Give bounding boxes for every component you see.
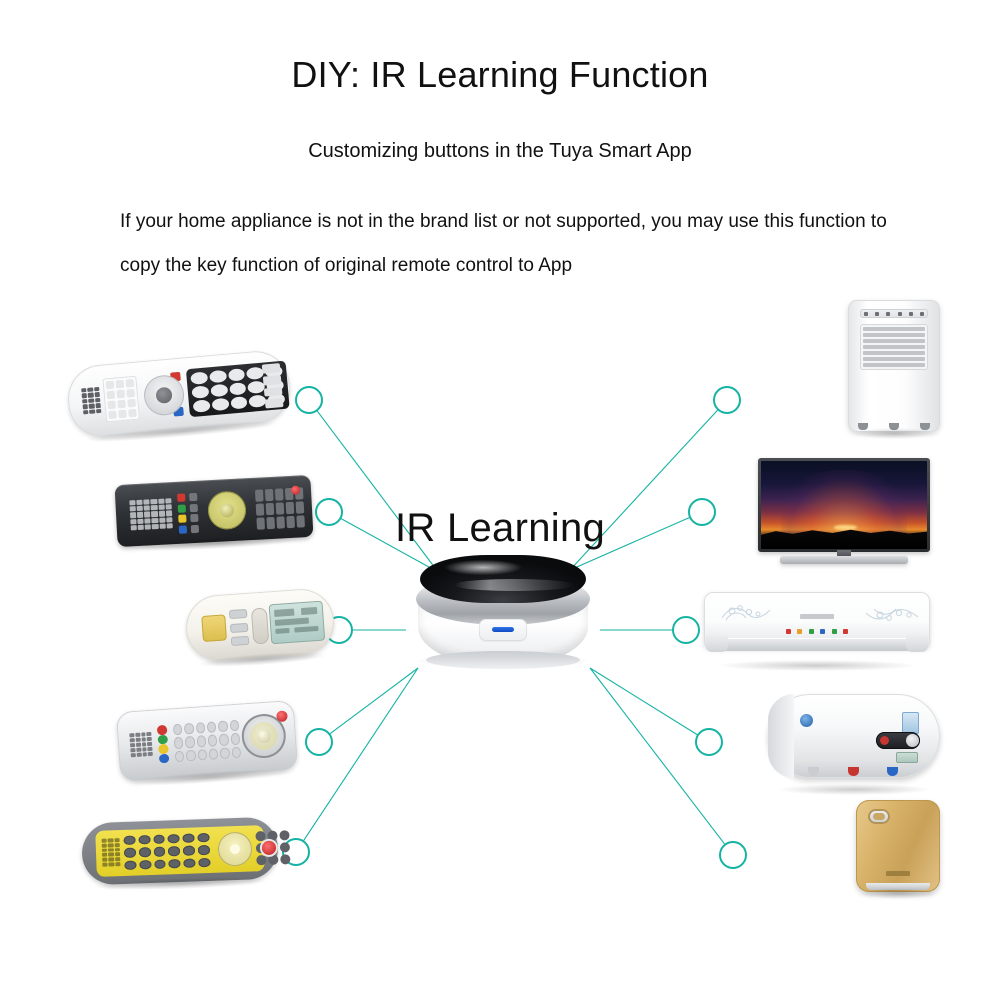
brand-logo <box>129 498 173 530</box>
numeric-keys <box>173 720 241 763</box>
device-shadow <box>861 888 935 899</box>
side-cap-left <box>706 632 728 652</box>
node-circle-split-air-conditioner[interactable] <box>673 617 699 643</box>
air-louver <box>714 638 920 651</box>
television[interactable] <box>758 458 930 566</box>
tank-end-cap <box>768 694 794 778</box>
floral-pattern-right <box>864 601 920 627</box>
hub-button[interactable] <box>479 619 527 641</box>
handle-cutout <box>873 813 885 820</box>
temperature-dial <box>906 734 919 747</box>
hub-dome <box>420 555 586 603</box>
node-circle-white-tv-remote[interactable] <box>296 387 322 413</box>
ac-remote[interactable] <box>184 587 336 663</box>
brand-logo <box>129 732 153 757</box>
side-cap-right <box>906 632 928 652</box>
carry-handle <box>868 809 890 824</box>
node-circle-silver-universal-remote[interactable] <box>306 729 332 755</box>
node-circle-water-heater[interactable] <box>696 729 722 755</box>
lcd-display <box>269 601 326 645</box>
connector-line-water-heater <box>590 668 698 735</box>
air-vent <box>860 324 928 370</box>
device-shadow <box>778 784 929 795</box>
air-purifier[interactable] <box>856 800 940 892</box>
remote-keypad-left <box>102 376 140 423</box>
ir-blaster-hub[interactable] <box>404 555 602 673</box>
water-heater[interactable] <box>768 694 940 788</box>
control-buttons <box>229 609 249 646</box>
numeric-keys <box>123 833 210 870</box>
tv-bezel <box>758 458 930 552</box>
water-pipes <box>808 767 898 776</box>
indicator-leds <box>786 628 848 634</box>
control-panel <box>860 309 928 318</box>
infographic-page: DIY: IR Learning Function Customizing bu… <box>0 0 1000 1000</box>
connector-line-silver-universal-remote <box>329 668 418 734</box>
yellow-remote[interactable] <box>81 817 279 886</box>
remote-face <box>95 825 265 877</box>
power-indicator <box>880 736 889 745</box>
split-air-conditioner[interactable] <box>704 592 930 664</box>
appliance-body <box>704 592 930 648</box>
brand-logo <box>800 614 834 619</box>
dpad <box>217 831 252 866</box>
tv-stand <box>780 556 908 564</box>
silver-universal-remote[interactable] <box>116 700 298 782</box>
temperature-display <box>896 752 918 763</box>
appliance-body <box>768 694 940 778</box>
remote-label-strip <box>81 387 101 414</box>
node-circle-air-purifier[interactable] <box>720 842 746 868</box>
brand-logo <box>886 871 910 876</box>
device-shadow <box>854 428 935 439</box>
dpad-center <box>155 387 172 404</box>
swing-button <box>251 607 269 644</box>
node-circle-portable-air-conditioner[interactable] <box>714 387 740 413</box>
energy-label <box>902 712 919 734</box>
brand-logo <box>102 838 121 867</box>
hub-led-indicator <box>492 627 514 632</box>
brand-badge <box>800 714 813 727</box>
function-keys <box>262 363 284 408</box>
black-tv-remote[interactable] <box>115 475 314 547</box>
dpad-center <box>220 503 235 518</box>
dpad-center <box>230 844 240 854</box>
mode-button <box>201 614 227 642</box>
screen-sun-glow <box>834 525 857 529</box>
hub-dome-gloss <box>454 579 574 591</box>
portable-air-conditioner[interactable] <box>848 300 940 432</box>
tv-screen <box>761 461 927 549</box>
device-shadow <box>718 660 917 671</box>
control-panel <box>876 732 920 749</box>
appliance-body <box>856 800 940 892</box>
hub-base-rim <box>426 651 580 669</box>
connector-line-air-purifier <box>590 668 725 845</box>
floral-pattern-left <box>718 600 774 626</box>
